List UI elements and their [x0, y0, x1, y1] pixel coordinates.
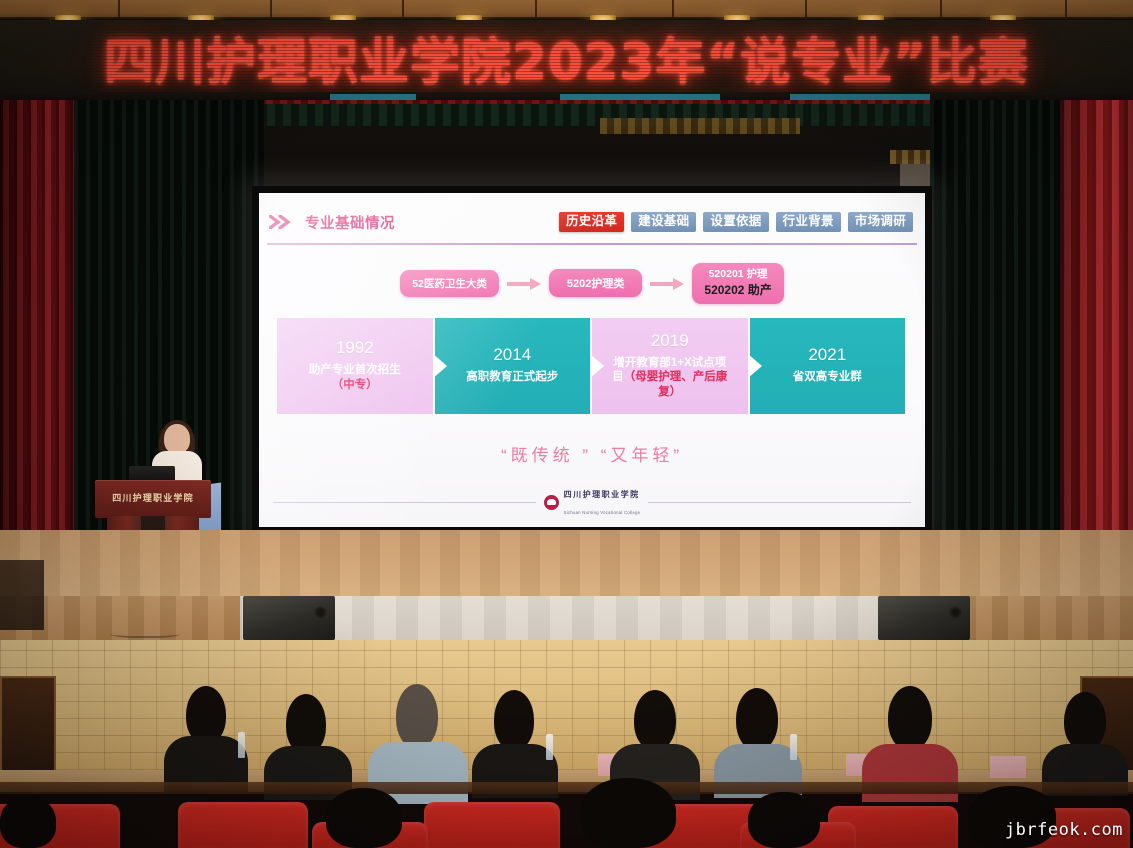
led-banner-text: 四川护理职业学院2023年“说专业”比赛: [104, 22, 1029, 94]
audience-head: [580, 778, 676, 848]
soffit-seam: [118, 0, 120, 22]
timeline-desc: 高职教育正式起步: [466, 370, 558, 384]
timeline-year: 2021: [808, 345, 846, 365]
stage-monitor-speaker-left: [243, 596, 335, 640]
curtain-valance-green: [235, 104, 935, 126]
footer-divider-right: [648, 502, 911, 503]
foreground-seat-row: [0, 790, 1133, 848]
timeline-desc: 助产专业首次招生 （中专）: [309, 363, 401, 392]
timeline-item-2021: 2021 省双高专业群: [750, 318, 906, 414]
judge-head: [736, 688, 778, 750]
flow-arrow-icon: [650, 279, 684, 287]
judge-head: [634, 690, 676, 750]
tab-basis[interactable]: 设置依据: [703, 212, 768, 233]
stage-floor-rear: [0, 530, 1133, 600]
presentation-slide: 专业基础情况 历史沿革 建设基础 设置依据 行业背景 市场调研 52医药卫生大类…: [259, 193, 925, 527]
school-name-en: Sichuan Nursing Vocational College: [564, 510, 641, 515]
podium-school-name: 四川护理职业学院: [95, 491, 211, 504]
audience-head: [326, 788, 402, 848]
wall-door-left: [0, 676, 56, 776]
judge-head: [286, 694, 326, 754]
history-timeline: 1992 助产专业首次招生 （中专） 2014 高职教育正式起步 2019 增开…: [277, 318, 907, 414]
led-banner: 四川护理职业学院2023年“说专业”比赛: [0, 20, 1133, 96]
watermark: jbrfeok.com: [1005, 820, 1123, 840]
soffit-seam: [535, 0, 537, 22]
soffit-seam: [270, 0, 272, 22]
school-logo: 四川护理职业学院 Sichuan Nursing Vocational Coll…: [544, 485, 641, 519]
stage-monitor-speaker-right: [878, 596, 970, 640]
stage-floor-wood-right: [960, 596, 1133, 646]
flow-step-2: 5202护理类: [549, 269, 642, 297]
curtain-valance-gold: [600, 118, 800, 134]
name-card: [990, 756, 1026, 778]
audience-head: [0, 796, 56, 848]
timeline-desc-main: 高职教育正式起步: [466, 371, 558, 383]
flow-arrow-icon: [507, 279, 541, 287]
water-bottle: [238, 732, 245, 758]
flow-step-3-line2: 520202 助产: [704, 282, 771, 299]
presenter-head: [164, 424, 190, 454]
slide-footer: 四川护理职业学院 Sichuan Nursing Vocational Coll…: [259, 485, 925, 519]
timeline-desc-main: 省双高专业群: [793, 371, 862, 383]
auditorium-seat: [178, 802, 308, 848]
timeline-desc-main: 助产专业首次招生: [309, 364, 401, 376]
auditorium-seat: [424, 802, 560, 848]
classification-flow: 52医药卫生大类 5202护理类 520201 护理 520202 助产: [259, 263, 925, 304]
water-bottle: [790, 734, 797, 760]
slide-section-title: 专业基础情况: [305, 212, 395, 233]
soffit-seam: [1065, 0, 1067, 22]
judge-head: [494, 690, 534, 750]
water-bottle: [546, 734, 553, 760]
audience-head: [748, 792, 820, 848]
tab-history[interactable]: 历史沿革: [559, 212, 624, 233]
flow-step-3-line1: 520201 护理: [704, 267, 771, 282]
tab-foundation[interactable]: 建设基础: [631, 212, 696, 233]
stage-curtain-dark-right: [930, 100, 1070, 600]
timeline-item-1992: 1992 助产专业首次招生 （中专）: [277, 318, 433, 414]
footer-divider-left: [273, 502, 536, 503]
soffit-seam: [805, 0, 807, 22]
timeline-year: 2019: [651, 331, 689, 351]
ceiling-soffit: [0, 0, 1133, 22]
timeline-item-2014: 2014 高职教育正式起步: [435, 318, 591, 414]
judge-head: [396, 684, 438, 748]
soffit-seam: [402, 0, 404, 22]
timeline-desc: 省双高专业群: [793, 370, 862, 384]
flow-step-1: 52医药卫生大类: [400, 270, 499, 297]
header-divider: [267, 243, 917, 245]
school-logo-text: 四川护理职业学院 Sichuan Nursing Vocational Coll…: [564, 485, 641, 519]
auditorium-photo: 四川护理职业学院2023年“说专业”比赛 专业基础情况: [0, 0, 1133, 848]
timeline-year: 2014: [493, 345, 531, 365]
projection-screen-frame: 专业基础情况 历史沿革 建设基础 设置依据 行业背景 市场调研 52医药卫生大类…: [252, 186, 932, 534]
soffit-seam: [672, 0, 674, 22]
timeline-desc-accent: （中专）: [332, 379, 378, 391]
double-chevron-right-icon: [269, 215, 295, 229]
judge-head: [888, 686, 932, 750]
timeline-desc-accent: （母婴护理、产后康复）: [624, 371, 728, 397]
flow-step-3: 520201 护理 520202 助产: [692, 263, 783, 304]
judge-head: [1064, 692, 1106, 750]
timeline-desc: 增开教育部1+X试点项目（母婴护理、产后康复）: [608, 356, 732, 399]
timeline-item-2019: 2019 增开教育部1+X试点项目（母婴护理、产后康复）: [592, 318, 748, 414]
slide-header: 专业基础情况 历史沿革 建设基础 设置依据 行业背景 市场调研: [259, 205, 925, 239]
school-name-cn: 四川护理职业学院: [564, 490, 640, 499]
timeline-year: 1992: [336, 338, 374, 358]
judge-person: [1040, 690, 1130, 796]
floor-cable: [110, 628, 180, 638]
slide-tab-group: 历史沿革 建设基础 设置依据 行业背景 市场调研: [559, 212, 913, 233]
tab-industry[interactable]: 行业背景: [776, 212, 841, 233]
side-door: [0, 560, 44, 630]
stage-curtain-red-right: [1060, 100, 1133, 600]
school-crest-icon: [544, 495, 559, 510]
tab-market[interactable]: 市场调研: [848, 212, 913, 233]
slide-caption: “既传统 ” “又年轻”: [259, 441, 925, 466]
soffit-seam: [940, 0, 942, 22]
